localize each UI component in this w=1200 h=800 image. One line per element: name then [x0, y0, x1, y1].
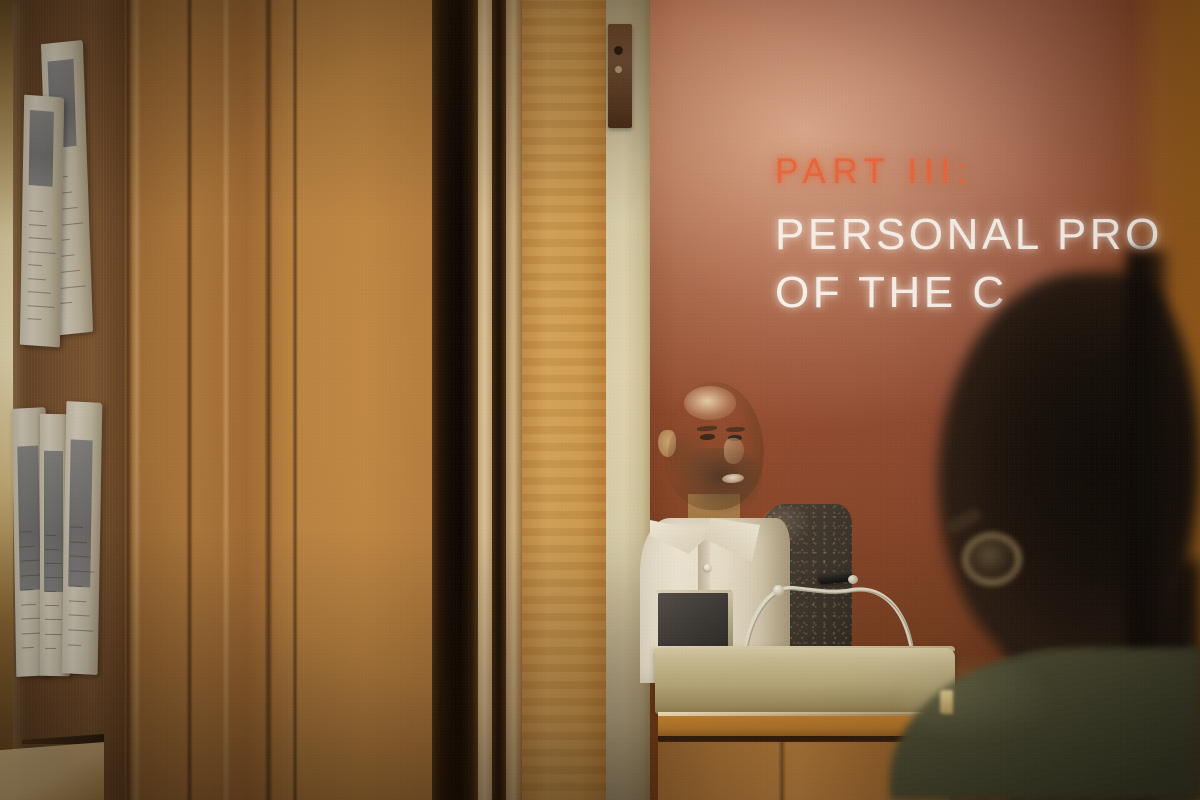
paper-text-line	[28, 278, 46, 280]
paper-print-block	[17, 445, 41, 591]
paper-text-line	[28, 291, 50, 294]
paper-text-line	[29, 224, 47, 226]
paper-text-line	[28, 264, 42, 266]
paper-text-line	[45, 591, 55, 592]
paper-print-block	[44, 450, 63, 592]
paper-text-line	[27, 318, 41, 320]
laptop-side-edge	[728, 592, 733, 649]
flyer-upper-front	[20, 95, 64, 348]
shoulder-highlight	[900, 660, 1050, 740]
paper-print-block	[68, 439, 93, 587]
paper-text-line	[45, 619, 62, 620]
photo-scene: PART III: PERSONAL PRO OF THE C	[0, 0, 1200, 800]
paper-text-line	[69, 644, 81, 646]
beard	[670, 448, 762, 520]
paper-text-line	[22, 647, 34, 649]
paper-text-line	[69, 629, 93, 631]
paper-text-line	[69, 600, 85, 602]
paper-text-line	[21, 603, 36, 605]
head-specular-highlight	[684, 386, 736, 420]
paper-text-line	[29, 251, 56, 254]
paper-text-line	[28, 305, 55, 308]
microphone-arm-tip	[848, 575, 858, 584]
flyer-mid-right	[62, 401, 103, 675]
paper-text-line	[45, 534, 55, 535]
laptop-lid[interactable]	[658, 593, 730, 649]
shirt-button	[704, 564, 711, 571]
paper-print-block	[28, 110, 54, 187]
background-light-sliver	[940, 690, 953, 714]
paper-text-line	[45, 605, 59, 606]
paper-text-line	[29, 210, 43, 212]
paper-text-line	[29, 237, 51, 240]
microphone-joint	[773, 585, 784, 596]
paper-text-line	[57, 285, 85, 289]
paper-text-line	[21, 618, 40, 620]
taped-papers-group	[0, 0, 140, 800]
paper-text-line	[45, 648, 55, 649]
paper-text-line	[69, 615, 89, 617]
slide-part-label: PART III:	[775, 152, 1200, 192]
eyeglasses-lens	[962, 532, 1022, 586]
lectern-body-seam	[778, 742, 786, 800]
paper-text-line	[45, 548, 59, 549]
